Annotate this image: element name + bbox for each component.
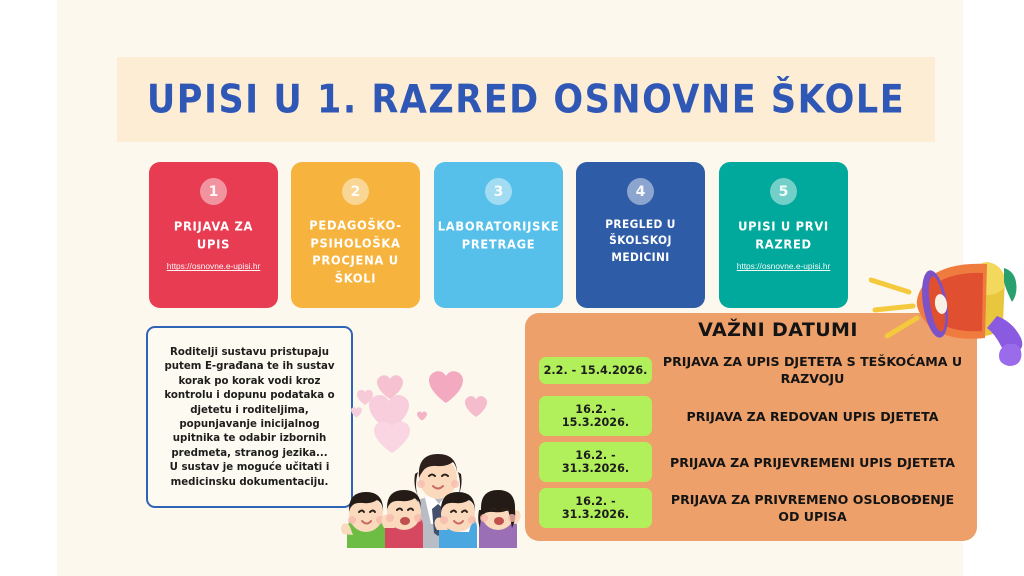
child-figure-purple [478,490,520,548]
megaphone-icon [869,248,1024,368]
megaphone-svg [869,248,1024,368]
date-badge: 16.2. - 31.3.2026. [539,442,652,482]
date-label: PRIJAVA ZA PRIVREMENO OSLOBOĐENJE OD UPI… [652,491,963,525]
date-label: PRIJAVA ZA REDOVAN UPIS DJETETA [652,408,963,425]
sound-rays [871,280,917,336]
step-number-badge: 1 [200,178,227,205]
family-illustration [339,352,531,548]
step-card-link[interactable]: https://osnovne.e-upisi.hr [737,261,831,271]
step-card-label: PRIJAVA ZA UPIS [149,218,278,253]
step-card-1[interactable]: 1 PRIJAVA ZA UPIS https://osnovne.e-upis… [149,162,278,308]
info-box-text: Roditelji sustavu pristupaju putem E-gra… [156,346,343,491]
child-figure-red [382,490,424,548]
date-row: 16.2. - 31.3.2026. PRIJAVA ZA PRIVREMENO… [539,485,963,531]
step-number-badge: 2 [342,178,369,205]
step-card-link[interactable]: https://osnovne.e-upisi.hr [167,261,261,271]
step-number-badge: 3 [485,178,512,205]
date-row: 16.2. - 31.3.2026. PRIJAVA ZA PRIJEVREME… [539,439,963,485]
date-row: 16.2. - 15.3.2026. PRIJAVA ZA REDOVAN UP… [539,393,963,439]
hearts-and-family-svg [339,352,531,548]
date-badge: 16.2. - 15.3.2026. [539,396,652,436]
step-card-5[interactable]: 5 UPISI U PRVI RAZRED https://osnovne.e-… [719,162,848,308]
step-number-badge: 5 [770,178,797,205]
step-card-2[interactable]: 2 PEDAGOŠKO-PSIHOLOŠKA PROCJENA U ŠKOLI [291,162,420,308]
step-card-3[interactable]: 3 LABORATORIJSKE PRETRAGE [434,162,563,308]
date-label: PRIJAVA ZA PRIJEVREMENI UPIS DJETETA [652,454,963,471]
date-badge: 16.2. - 31.3.2026. [539,488,652,528]
title-banner: UPISI U 1. RAZRED OSNOVNE ŠKOLE [117,57,935,142]
step-card-label: UPISI U PRVI RAZRED [719,218,848,253]
info-box: Roditelji sustavu pristupaju putem E-gra… [146,326,353,508]
child-figure-green [341,492,385,548]
step-card-label: LABORATORIJSKE PRETRAGE [434,218,563,253]
step-card-label: PEDAGOŠKO-PSIHOLOŠKA PROCJENA U ŠKOLI [291,217,420,288]
pink-hearts-decoration [351,371,487,453]
step-number-badge: 4 [627,178,654,205]
date-badge: 2.2. - 15.4.2026. [539,357,652,384]
slide-canvas: UPISI U 1. RAZRED OSNOVNE ŠKOLE 1 PRIJAV… [57,0,963,576]
step-card-4[interactable]: 4 PREGLED U ŠKOLSKOJ MEDICINI [576,162,705,308]
page-title: UPISI U 1. RAZRED OSNOVNE ŠKOLE [147,77,905,122]
step-card-label: PREGLED U ŠKOLSKOJ MEDICINI [576,218,705,267]
